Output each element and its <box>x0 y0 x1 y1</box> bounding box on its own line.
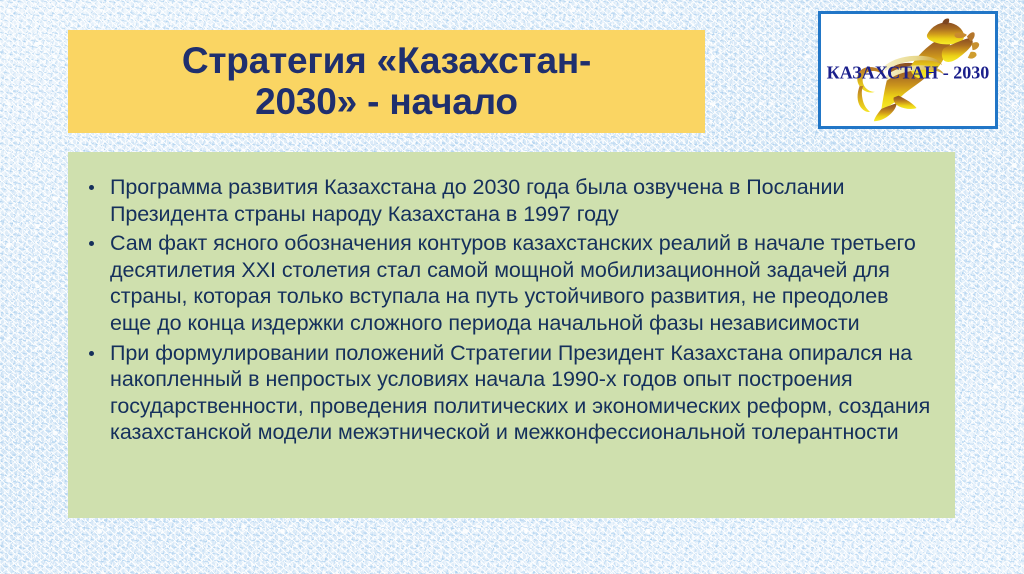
bullet-dot-icon <box>89 185 94 190</box>
title-plate: Стратегия «Казахстан- 2030» - начало <box>68 30 705 133</box>
list-item: Сам факт ясного обозначения контуров каз… <box>80 230 933 336</box>
bullet-dot-icon <box>89 351 94 356</box>
list-item: При формулировании положений Стратегии П… <box>80 340 933 446</box>
list-item: Программа развития Казахстана до 2030 го… <box>80 174 933 227</box>
bullet-dot-icon <box>89 241 94 246</box>
slide-title: Стратегия «Казахстан- 2030» - начало <box>182 41 591 122</box>
logo-artwork: КАЗАХСТАН - 2030 <box>821 14 995 126</box>
content-panel: Программа развития Казахстана до 2030 го… <box>68 152 955 518</box>
kazakhstan-2030-logo: КАЗАХСТАН - 2030 <box>818 11 998 129</box>
bullet-text: При формулировании положений Стратегии П… <box>110 341 930 445</box>
bullet-text: Программа развития Казахстана до 2030 го… <box>110 175 844 226</box>
bullet-text: Сам факт ясного обозначения контуров каз… <box>110 231 916 335</box>
logo-caption: КАЗАХСТАН - 2030 <box>827 63 990 83</box>
bullet-list: Программа развития Казахстана до 2030 го… <box>80 174 933 446</box>
